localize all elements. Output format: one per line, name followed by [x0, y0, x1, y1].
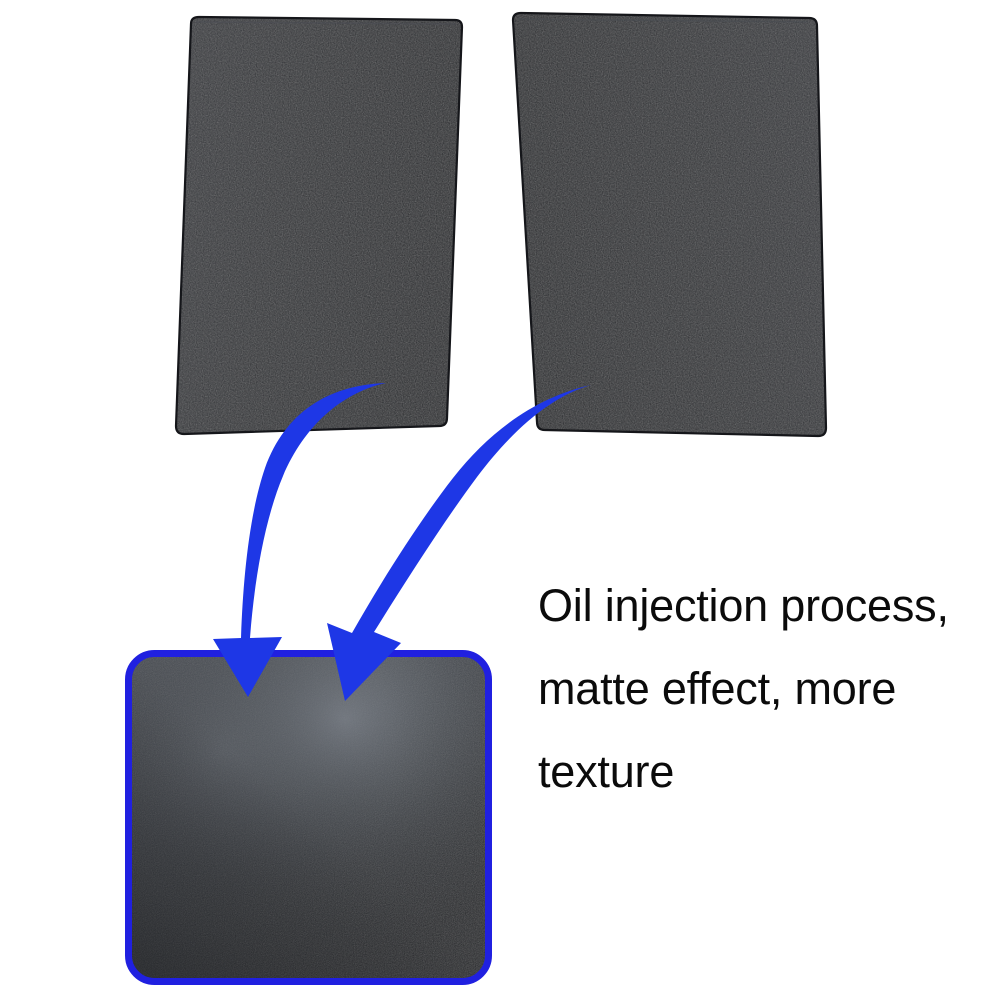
product-detail-image: Oil injection process, matte effect, mor…	[0, 0, 1000, 1000]
caption-line-3: texture	[538, 730, 1000, 813]
right-panel	[513, 13, 826, 436]
left-panel	[176, 17, 462, 434]
caption-line-2: matte effect, more	[538, 647, 1000, 730]
caption-block: Oil injection process, matte effect, mor…	[538, 564, 1000, 813]
caption-line-1: Oil injection process,	[538, 564, 1000, 647]
product-scene	[0, 0, 1000, 1000]
surface-texture-closeup	[128, 653, 489, 982]
